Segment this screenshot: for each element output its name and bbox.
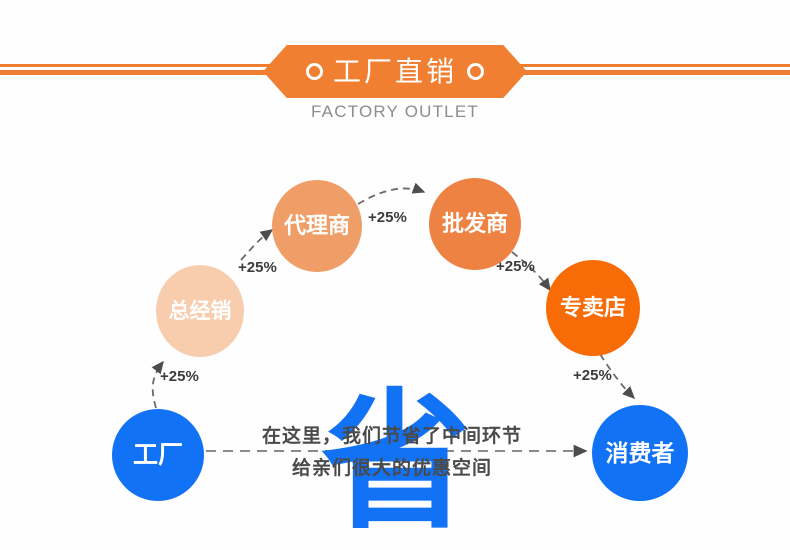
rule-line-thin bbox=[518, 64, 790, 67]
node-wholesaler[interactable]: 批发商 bbox=[429, 178, 521, 270]
header-rule-left bbox=[0, 64, 272, 75]
node-distributor[interactable]: 总经销 bbox=[156, 265, 244, 357]
header-banner: 工厂直销 bbox=[263, 45, 527, 98]
promo-graphic: 工厂直销 FACTORY OUTLET 省 bbox=[0, 0, 790, 549]
supply-chain-diagram: 省 工厂 总经销 代理商 批发商 专卖店 消费者 +25% +25% +25% … bbox=[0, 140, 790, 549]
edge-label-markup-2: +25% bbox=[238, 259, 277, 276]
edge-label-markup-1: +25% bbox=[160, 368, 199, 385]
node-consumer[interactable]: 消费者 bbox=[592, 405, 688, 501]
node-agent[interactable]: 代理商 bbox=[272, 180, 362, 272]
node-factory[interactable]: 工厂 bbox=[112, 409, 204, 501]
edge-label-markup-5: +25% bbox=[573, 367, 612, 384]
rule-line-thin bbox=[0, 64, 272, 67]
tagline-line-2: 给亲们很大的优惠空间 bbox=[222, 453, 562, 480]
header-rule-right bbox=[518, 64, 790, 75]
edge-label-markup-3: +25% bbox=[368, 209, 407, 226]
ring-dot-icon bbox=[306, 63, 323, 80]
page-title: 工厂直销 bbox=[333, 58, 457, 86]
edge-agent-to-wholesaler bbox=[358, 188, 424, 204]
edge-label-markup-4: +25% bbox=[496, 258, 535, 275]
tagline-line-1: 在这里，我们节省了中间环节 bbox=[222, 421, 562, 448]
rule-line-thick bbox=[518, 70, 790, 75]
edge-distributor-to-agent bbox=[241, 230, 272, 260]
ring-dot-icon bbox=[467, 63, 484, 80]
header-banner-area: 工厂直销 FACTORY OUTLET bbox=[0, 0, 790, 140]
node-exclusive-store[interactable]: 专卖店 bbox=[546, 260, 640, 356]
rule-line-thick bbox=[0, 70, 272, 75]
page-subtitle: FACTORY OUTLET bbox=[0, 102, 790, 122]
